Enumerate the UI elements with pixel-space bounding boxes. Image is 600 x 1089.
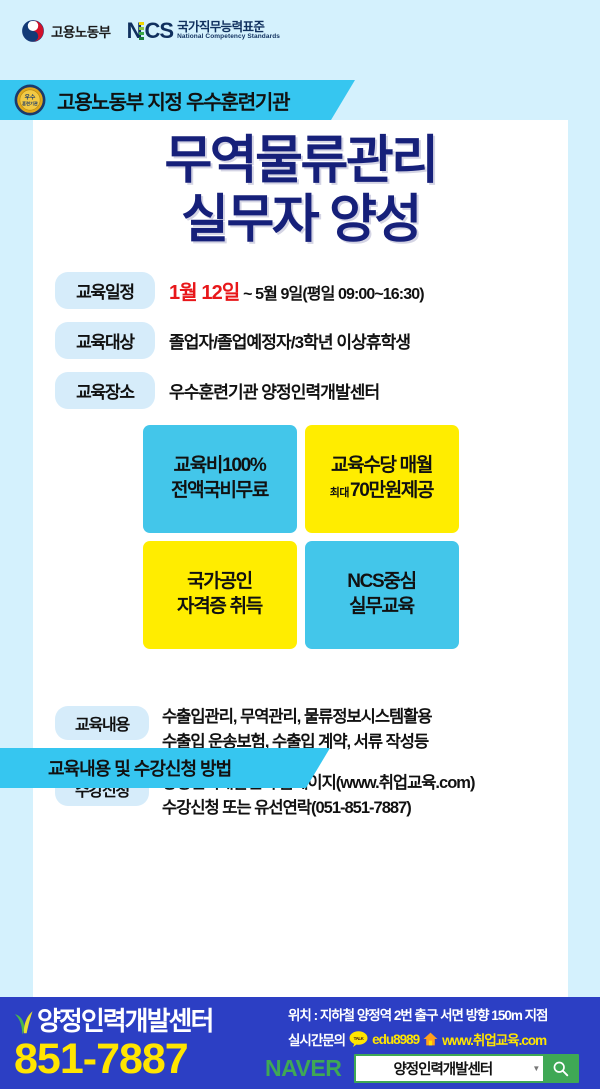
content-panel: 무역물류관리 실무자 양성 교육일정 1월 12일 ~ 5월 9일(평일 09:… [33,120,568,997]
footer-bar: 양정인력개발센터 851-7887 위치 : 지하철 양정역 2번 출구 서면 … [0,997,600,1089]
benefit-box-certificate: 국가공인 자격증 취득 [143,541,297,649]
section-header-ribbon: 교육내용 및 수강신청 방법 [0,748,330,788]
naver-search-input[interactable]: 양정인력개발센터 [356,1058,529,1079]
schedule-start-date: 1월 12일 [169,282,239,304]
benefit-box-ncs: NCS중심 실무교육 [305,541,459,649]
ncs-accent-bars-icon [139,22,144,41]
ncs-wordmark: 국가직무능력표준 National Competency Standards [177,21,280,41]
curriculum-line-1: 수출입관리, 무역관리, 물류정보시스템활용 [162,705,432,731]
naver-search-button[interactable] [543,1056,577,1081]
schedule-remainder: ~ 5월 9일(평일 09:00~16:30) [243,286,424,303]
benefit-allowance-qualifier: 최대 [330,486,349,500]
footer-brand-block: 양정인력개발센터 851-7887 [12,1001,280,1080]
info-label-location: 교육장소 [55,372,155,409]
search-icon [552,1060,569,1077]
info-row-audience: 교육대상 졸업자/졸업예정자/3학년 이상휴학생 [55,322,568,359]
footer-kakao-id: edu8989 [372,1032,419,1047]
header-logo-bar: 고용노동부 N CS 국가직무능력표준 National Competency … [0,0,600,62]
footer-phone-number: 851-7887 [14,1039,280,1080]
benefit-ncs-line1: NCS중심 [347,570,416,594]
footer-brand: 양정인력개발센터 [12,1001,280,1038]
ministry-label: 고용노동부 [51,21,111,41]
detail-label-curriculum: 교육내용 [55,706,149,740]
title-line-1: 무역물류관리 [33,132,568,191]
info-row-location: 교육장소 우수훈련기관 양정인력개발센터 [55,372,568,409]
footer-inquiry-line: 실시간문의 TALK edu8989 www.취업교육.com [288,1029,594,1049]
benefit-certificate-line1: 국가공인 [187,570,252,594]
benefit-tuition-line2: 전액국비무료 [171,479,268,503]
poster-root: 고용노동부 N CS 국가직무능력표준 National Competency … [0,0,600,1089]
chevron-down-icon[interactable]: ▼ [529,1064,543,1073]
section-header-label: 교육내용 및 수강신청 방법 [48,755,231,781]
info-label-schedule: 교육일정 [55,272,155,309]
naver-wordmark: NAVER [265,1055,341,1082]
svg-text:TALK: TALK [354,1036,365,1041]
detail-value-curriculum: 수출입관리, 무역관리, 물류정보시스템활용 수출입 운송보험, 수출입 계약,… [162,705,432,756]
footer-website[interactable]: www.취업교육.com [442,1029,546,1049]
ncs-mark-icon: N CS [127,20,173,42]
ncs-letters-cs: CS [145,21,174,42]
naver-search-widget: NAVER 양정인력개발센터 ▼ [265,1054,579,1083]
ncs-logo: N CS 국가직무능력표준 National Competency Standa… [127,20,280,42]
benefit-allowance-amount: 70만원제공 [350,479,433,503]
benefit-allowance-line2: 최대 70만원제공 [330,479,434,503]
course-info-list: 교육일정 1월 12일 ~ 5월 9일(평일 09:00~16:30) 교육대상… [33,272,568,409]
ncs-english-name: National Competency Standards [177,34,280,41]
footer-inquiry-label: 실시간문의 [288,1029,345,1049]
title-line-2: 실무자 양성 [33,191,568,250]
info-value-audience: 졸업자/졸업예정자/3학년 이상휴학생 [169,328,410,353]
kakaotalk-icon[interactable]: TALK [349,1031,368,1047]
benefit-certificate-line2: 자격증 취득 [177,595,262,619]
footer-contact-block: 위치 : 지하철 양정역 2번 출구 서면 방향 150m 지점 실시간문의 T… [288,1004,594,1049]
home-icon[interactable] [423,1032,438,1046]
svg-text:훈련기관: 훈련기관 [22,100,38,107]
application-line-2: 수강신청 또는 유선연락(051-851-7887) [162,796,474,822]
detail-row-curriculum: 교육내용 수출입관리, 무역관리, 물류정보시스템활용 수출입 운송보험, 수출… [55,705,568,756]
accreditation-ribbon: 우수 훈련기관 고용노동부 지정 우수훈련기관 [0,80,355,120]
info-label-audience: 교육대상 [55,322,155,359]
sprout-leaf-icon [12,1005,34,1035]
footer-center-name: 양정인력개발센터 [37,1001,212,1038]
footer-location-line: 위치 : 지하철 양정역 2번 출구 서면 방향 150m 지점 [288,1004,594,1024]
benefit-box-tuition: 교육비100% 전액국비무료 [143,425,297,533]
taegeuk-icon [22,20,44,42]
info-value-schedule: 1월 12일 ~ 5월 9일(평일 09:00~16:30) [169,276,424,305]
benefit-box-grid: 교육비100% 전액국비무료 교육수당 매월 최대 70만원제공 국가공인 자격… [143,425,459,649]
excellence-seal-icon: 우수 훈련기관 [14,84,46,116]
ministry-logo: 고용노동부 [22,20,111,42]
benefit-tuition-line1: 교육비100% [174,454,266,478]
accreditation-ribbon-label: 고용노동부 지정 우수훈련기관 [57,86,289,115]
naver-search-box[interactable]: 양정인력개발센터 ▼ [354,1054,579,1083]
benefit-box-allowance: 교육수당 매월 최대 70만원제공 [305,425,459,533]
info-value-location: 우수훈련기관 양정인력개발센터 [169,378,379,403]
info-row-schedule: 교육일정 1월 12일 ~ 5월 9일(평일 09:00~16:30) [55,272,568,309]
page-title: 무역물류관리 실무자 양성 [33,132,568,250]
benefit-ncs-line2: 실무교육 [349,595,414,619]
benefit-allowance-line1: 교육수당 매월 [331,454,432,478]
